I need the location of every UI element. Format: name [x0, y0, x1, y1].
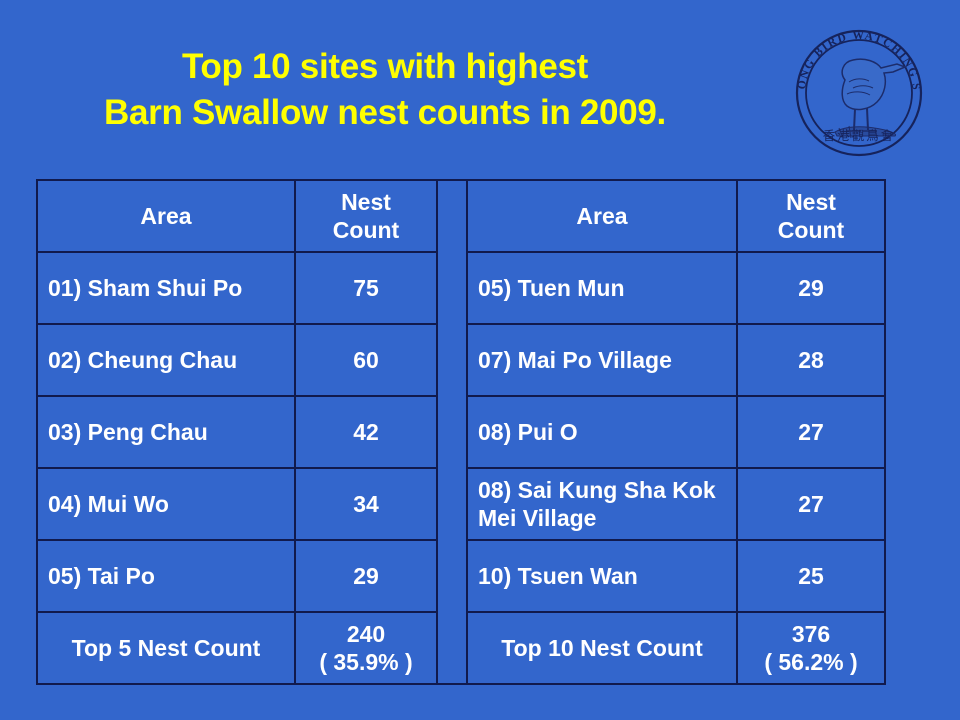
summary-label-left: Top 5 Nest Count [37, 612, 295, 684]
count-cell: 27 [737, 468, 885, 540]
page-title-line-1: Top 10 sites with highest [0, 44, 770, 90]
count-cell: 29 [737, 252, 885, 324]
count-cell: 29 [295, 540, 437, 612]
page-title-line-2: Barn Swallow nest counts in 2009. [0, 90, 770, 136]
area-cell: 10) Tsuen Wan [467, 540, 737, 612]
area-cell: 05) Tuen Mun [467, 252, 737, 324]
count-cell: 25 [737, 540, 885, 612]
summary-value-left: 240 ( 35.9% ) [295, 612, 437, 684]
summary-count-left: 240 [306, 620, 426, 648]
header-nest-count-left-line2: Count [333, 217, 399, 243]
area-cell: 07) Mai Po Village [467, 324, 737, 396]
area-cell: 02) Cheung Chau [37, 324, 295, 396]
wading-bird-icon [835, 59, 905, 138]
area-cell: 04) Mui Wo [37, 468, 295, 540]
logo-svg: HONG KONG BIRD WATCHING SOCIETY 香港觀鳥會 [789, 20, 929, 162]
area-cell: 08) Pui O [467, 396, 737, 468]
header-nest-count-left: Nest Count [295, 180, 437, 252]
summary-value-right: 376 ( 56.2% ) [737, 612, 885, 684]
area-cell: 08) Sai Kung Sha Kok Mei Village [467, 468, 737, 540]
area-cell: 03) Peng Chau [37, 396, 295, 468]
count-cell: 34 [295, 468, 437, 540]
header-area-left: Area [37, 180, 295, 252]
table-spacer-column [437, 180, 467, 684]
header-nest-count-left-line1: Nest [341, 189, 391, 215]
count-cell: 28 [737, 324, 885, 396]
header-nest-count-right: Nest Count [737, 180, 885, 252]
count-cell: 60 [295, 324, 437, 396]
header-nest-count-right-line1: Nest [786, 189, 836, 215]
count-cell: 42 [295, 396, 437, 468]
table-header-row: Area Nest Count Area Nest Count [37, 180, 885, 252]
count-cell: 27 [737, 396, 885, 468]
page-title: Top 10 sites with highest Barn Swallow n… [0, 44, 770, 136]
header-nest-count-right-line2: Count [778, 217, 844, 243]
summary-label-right: Top 10 Nest Count [467, 612, 737, 684]
summary-percent-right: ( 56.2% ) [748, 648, 874, 676]
logo-chinese-text: 香港觀鳥會 [823, 128, 896, 143]
hkbws-logo: HONG KONG BIRD WATCHING SOCIETY 香港觀鳥會 [789, 20, 929, 162]
area-cell: 05) Tai Po [37, 540, 295, 612]
count-cell: 75 [295, 252, 437, 324]
summary-count-right: 376 [748, 620, 874, 648]
nest-count-table: Area Nest Count Area Nest Count 01) Sham… [36, 179, 886, 685]
header-area-right: Area [467, 180, 737, 252]
summary-percent-left: ( 35.9% ) [306, 648, 426, 676]
area-cell: 01) Sham Shui Po [37, 252, 295, 324]
